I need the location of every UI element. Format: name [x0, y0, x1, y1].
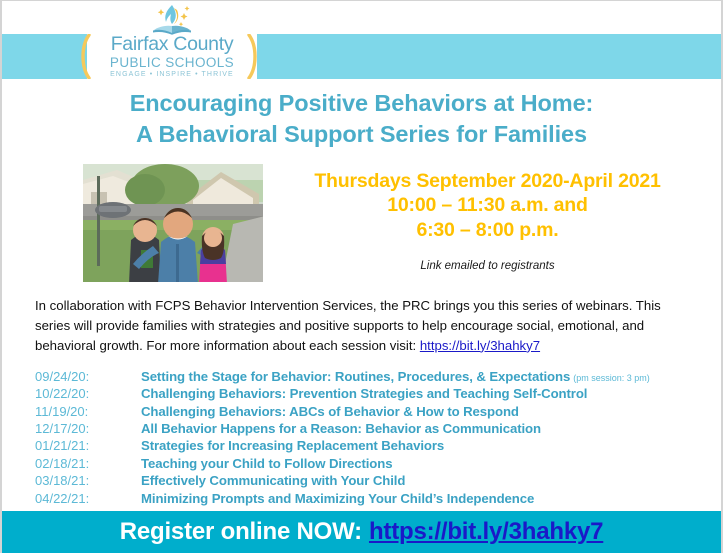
title-line-1: Encouraging Positive Behaviors at Home: [2, 88, 721, 119]
description-text: In collaboration with FCPS Behavior Inte… [35, 298, 661, 353]
schedule-line-3: 6:30 – 8:00 p.m. [272, 218, 703, 243]
session-date: 12/17/20: [35, 420, 141, 437]
session-title: Challenging Behaviors: ABCs of Behavior … [141, 403, 519, 420]
session-list: 09/24/20: Setting the Stage for Behavior… [35, 368, 721, 507]
session-row: 02/18/21: Teaching your Child to Follow … [35, 455, 721, 472]
page-title: Encouraging Positive Behaviors at Home: … [2, 88, 721, 151]
session-title: All Behavior Happens for a Reason: Behav… [141, 420, 541, 437]
session-date: 11/19/20: [35, 403, 141, 420]
session-note: (pm session: 3 pm) [573, 373, 650, 385]
session-row: 12/17/20: All Behavior Happens for a Rea… [35, 420, 721, 437]
family-photo [82, 163, 264, 283]
session-title: Strategies for Increasing Replacement Be… [141, 437, 444, 454]
schedule-note: Link emailed to registrants [272, 260, 703, 272]
swoosh-left-icon [78, 34, 91, 79]
schedule-line-1: Thursdays September 2020-April 2021 [272, 169, 703, 194]
logo-line-3: ENGAGE • INSPIRE • THRIVE [110, 71, 234, 78]
session-date: 10/22/20: [35, 385, 141, 402]
session-date: 04/22/21: [35, 490, 141, 507]
photo-and-schedule-row: Thursdays September 2020-April 2021 10:0… [2, 163, 721, 283]
session-date: 09/24/20: [35, 368, 141, 385]
family-photo-image [83, 164, 264, 283]
schedule-line-2: 10:00 – 11:30 a.m. and [272, 193, 703, 218]
title-line-2: A Behavioral Support Series for Families [2, 119, 721, 150]
logo-wordmark: Fairfax County PUBLIC SCHOOLS ENGAGE • I… [110, 35, 234, 78]
session-row: 03/18/21: Effectively Communicating with… [35, 472, 721, 489]
session-row: 10/22/20: Challenging Behaviors: Prevent… [35, 385, 721, 402]
session-title: Setting the Stage for Behavior: Routines… [141, 368, 570, 385]
description-paragraph: In collaboration with FCPS Behavior Inte… [35, 296, 699, 356]
session-title: Minimizing Prompts and Maximizing Your C… [141, 490, 534, 507]
schedule-block: Thursdays September 2020-April 2021 10:0… [264, 163, 703, 283]
header: Fairfax County PUBLIC SCHOOLS ENGAGE • I… [2, 1, 721, 79]
logo-line-2: PUBLIC SCHOOLS [110, 56, 234, 70]
session-title: Effectively Communicating with Your Chil… [141, 472, 405, 489]
session-row: 11/19/20: Challenging Behaviors: ABCs of… [35, 403, 721, 420]
flame-book-stars-icon [141, 3, 203, 36]
session-row: 04/22/21: Minimizing Prompts and Maximiz… [35, 490, 721, 507]
session-date: 02/18/21: [35, 455, 141, 472]
swoosh-right-icon [247, 34, 260, 79]
session-row: 09/24/20: Setting the Stage for Behavior… [35, 368, 721, 385]
session-title: Challenging Behaviors: Prevention Strate… [141, 385, 587, 402]
fcps-logo: Fairfax County PUBLIC SCHOOLS ENGAGE • I… [87, 3, 257, 79]
register-footer-bar: Register online NOW: https://bit.ly/3hah… [2, 511, 721, 553]
session-row: 01/21/21: Strategies for Increasing Repl… [35, 437, 721, 454]
session-date: 01/21/21: [35, 437, 141, 454]
register-label: Register online NOW: [120, 518, 362, 546]
session-title: Teaching your Child to Follow Directions [141, 455, 392, 472]
flyer-page: Fairfax County PUBLIC SCHOOLS ENGAGE • I… [0, 0, 723, 553]
description-link[interactable]: https://bit.ly/3hahky7 [420, 338, 540, 353]
session-date: 03/18/21: [35, 472, 141, 489]
logo-line-1: Fairfax County [110, 35, 234, 55]
register-link[interactable]: https://bit.ly/3hahky7 [369, 518, 603, 546]
